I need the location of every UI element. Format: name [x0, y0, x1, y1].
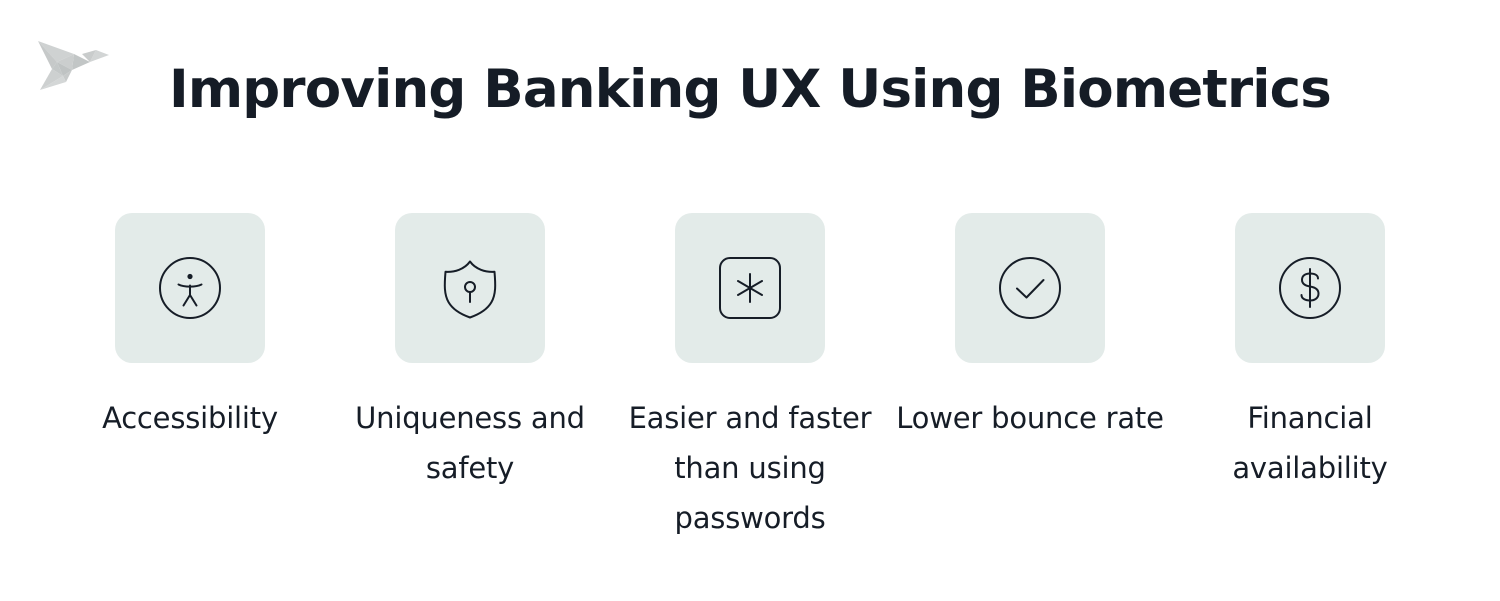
dollar-circle-icon: [1278, 256, 1342, 320]
icon-tile: [115, 213, 265, 363]
page-title: Improving Banking UX Using Biometrics: [0, 60, 1500, 121]
feature-card-financial-availability[interactable]: Financial availability: [1170, 213, 1450, 493]
icon-tile: [1235, 213, 1385, 363]
icon-tile: [395, 213, 545, 363]
shield-lock-icon: [438, 256, 502, 320]
feature-card-accessibility[interactable]: Accessibility: [50, 213, 330, 443]
icon-tile: [955, 213, 1105, 363]
feature-label: Easier and faster than using passwords: [615, 393, 885, 543]
check-circle-icon: [998, 256, 1062, 320]
icon-tile: [675, 213, 825, 363]
feature-label: Lower bounce rate: [895, 393, 1165, 443]
feature-card-uniqueness-and-safety[interactable]: Uniqueness and safety: [330, 213, 610, 493]
feature-label: Financial availability: [1175, 393, 1445, 493]
feature-card-easier-and-faster-than-using-passwords[interactable]: Easier and faster than using passwords: [610, 213, 890, 543]
feature-label: Accessibility: [55, 393, 325, 443]
feature-label: Uniqueness and safety: [335, 393, 605, 493]
password-asterisk-key-icon: [718, 256, 782, 320]
feature-card-row: Accessibility Uniqueness and safety: [50, 213, 1450, 543]
slide-canvas: Improving Banking UX Using Biometrics Ac…: [0, 0, 1500, 601]
feature-card-lower-bounce-rate[interactable]: Lower bounce rate: [890, 213, 1170, 443]
accessibility-person-circle-icon: [158, 256, 222, 320]
